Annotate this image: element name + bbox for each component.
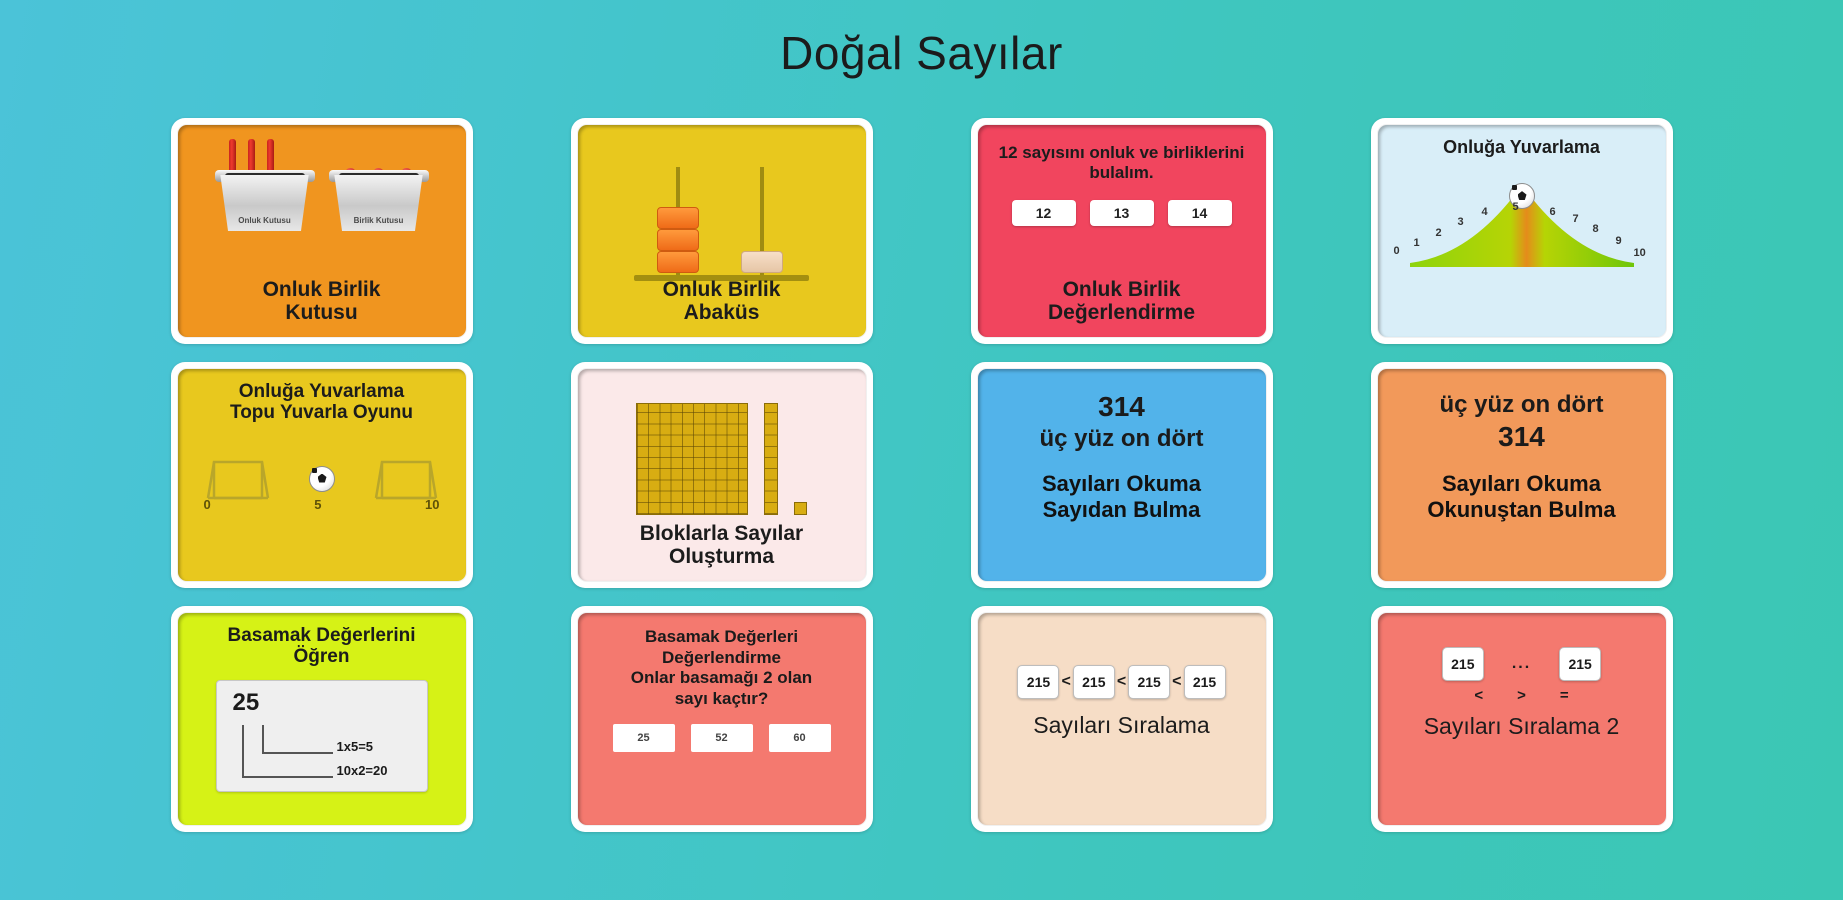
place-value-diagram: 25 1x5=5 10x2=20	[216, 680, 428, 792]
number-tile: 215	[1073, 665, 1115, 699]
goal-right-icon	[370, 450, 444, 502]
comparison-operator: <	[1061, 673, 1070, 691]
card-label-line2: Değerlendirme	[984, 301, 1260, 325]
number-tile: 215	[1017, 665, 1059, 699]
card-label-line1: Sayıları Sıralama	[1033, 712, 1209, 738]
card-label: Sayıları Sıralama	[978, 713, 1266, 739]
card-label-line1: Bloklarla Sayılar	[584, 522, 860, 546]
operator-less-than[interactable]: <	[1474, 687, 1483, 704]
card-label-line2: Topu Yuvarla Oyunu	[184, 402, 460, 423]
card-label-line1: Onluk Birlik	[584, 278, 860, 302]
number-pair: 215 ... 215	[1442, 647, 1601, 681]
unit-cube	[794, 502, 807, 515]
onluk-bin-icon: Onluk Kutusu	[217, 153, 313, 231]
example-number: 314	[1098, 391, 1145, 423]
card-label: Basamak Değerleri Değerlendirme Onlar ba…	[619, 613, 824, 710]
card-sayilari-okuma-sayidan-bulma[interactable]: 314 üç yüz on dört Sayıları Okuma Sayıda…	[971, 362, 1273, 588]
diagram-eq-tens: 10x2=20	[337, 763, 388, 778]
hill-number: 5	[1513, 201, 1519, 213]
hill-number: 9	[1616, 235, 1622, 247]
card-label: Onluğa Yuvarlama	[1378, 125, 1666, 157]
card-label: Onluk Birlik Değerlendirme	[978, 278, 1266, 325]
operator-choices: < > =	[1474, 687, 1568, 704]
option-button[interactable]: 12	[1012, 200, 1076, 226]
card-label: Basamak Değerlerini Öğren	[178, 613, 466, 668]
base-ten-blocks-icon	[636, 391, 807, 515]
card-label: Onluk Birlik Abaküs	[578, 278, 866, 325]
card-label-line1: Sayıları Sıralama 2	[1424, 713, 1620, 739]
card-basamak-degerlerini-ogren[interactable]: Basamak Değerlerini Öğren 25 1x5=5 10x2=…	[171, 606, 473, 832]
card-label-line2: Öğren	[184, 646, 460, 667]
scale-mid: 5	[314, 497, 321, 512]
operator-greater-than[interactable]: >	[1517, 687, 1526, 704]
card-label: Sayıları Okuma Okunuştan Bulma	[1427, 471, 1615, 523]
card-label-line1: Basamak Değerlerini	[184, 625, 460, 646]
card-onluga-yuvarlama[interactable]: Onluğa Yuvarlama	[1371, 118, 1673, 344]
example-number: 314	[1498, 421, 1545, 453]
option-button[interactable]: 13	[1090, 200, 1154, 226]
card-sayilari-siralama-2[interactable]: 215 ... 215 < > = Sayıları Sıralama 2	[1371, 606, 1673, 832]
hill-illustration: 0 1 2 3 4 5 6 7 8 9 10	[1378, 161, 1666, 291]
number-sequence: 215 < 215 < 215 < 215	[1017, 665, 1225, 699]
card-onluk-birlik-kutusu[interactable]: Onluk Kutusu Birlik Kutusu Onluk Birlik …	[171, 118, 473, 344]
card-label-line2: Değerlendirme	[631, 648, 812, 669]
card-label-line2: Sayıdan Bulma	[1042, 497, 1201, 523]
card-label: Bloklarla Sayılar Oluşturma	[578, 522, 866, 569]
card-label-line2: Kutusu	[184, 301, 460, 325]
diagram-lines	[217, 681, 429, 793]
scale-min: 0	[204, 497, 211, 512]
hill-number: 4	[1482, 206, 1488, 218]
option-button[interactable]: 60	[769, 724, 831, 752]
card-sayilari-okuma-okunustan-bulma[interactable]: üç yüz on dört 314 Sayıları Okuma Okunuş…	[1371, 362, 1673, 588]
example-words: üç yüz on dört	[1440, 391, 1604, 419]
bins-illustration: Onluk Kutusu Birlik Kutusu	[217, 153, 427, 231]
question-line1: Onlar basamağı 2 olan	[631, 668, 812, 689]
card-basamak-degerleri-degerlendirme[interactable]: Basamak Değerleri Değerlendirme Onlar ba…	[571, 606, 873, 832]
card-label-line2: Oluşturma	[584, 545, 860, 569]
card-label: Onluk Birlik Kutusu	[178, 278, 466, 325]
goals-illustration: 0 5 10	[178, 436, 466, 526]
number-tile: 215	[1559, 647, 1601, 681]
card-label-line1: Onluk Birlik	[184, 278, 460, 302]
comparison-operator: <	[1172, 673, 1181, 691]
hill-number: 0	[1394, 245, 1400, 257]
card-onluk-birlik-abakus[interactable]: Onluk Birlik Abaküs	[571, 118, 873, 344]
hill-number: 6	[1550, 206, 1556, 218]
card-label-line1: Onluğa Yuvarlama	[184, 381, 460, 402]
card-label-line2: Okunuştan Bulma	[1427, 497, 1615, 523]
example-words: üç yüz on dört	[1040, 425, 1204, 453]
comparison-operator: <	[1117, 673, 1126, 691]
card-sayilari-siralama[interactable]: 215 < 215 < 215 < 215 Sayıları Sıralama	[971, 606, 1273, 832]
card-label: Onluğa Yuvarlama Topu Yuvarla Oyunu	[178, 369, 466, 424]
hill-number: 7	[1573, 213, 1579, 225]
card-label-line1: Sayıları Okuma	[1042, 471, 1201, 497]
hill-number: 2	[1436, 227, 1442, 239]
scale-max: 10	[425, 497, 439, 512]
activity-card-grid: Onluk Kutusu Birlik Kutusu Onluk Birlik …	[0, 118, 1843, 832]
answer-options: 25 52 60	[613, 724, 831, 752]
number-tile: 215	[1128, 665, 1170, 699]
operator-equals[interactable]: =	[1560, 687, 1569, 704]
birlik-bin-icon: Birlik Kutusu	[331, 153, 427, 231]
card-label-line1: Onluğa Yuvarlama	[1443, 137, 1600, 157]
card-label-line2: Abaküs	[584, 301, 860, 325]
birlik-bin-tag: Birlik Kutusu	[354, 216, 404, 225]
hill-number: 8	[1593, 223, 1599, 235]
hill-number: 10	[1634, 247, 1646, 259]
scale-numbers: 0 5 10	[178, 497, 466, 512]
number-tile: 215	[1442, 647, 1484, 681]
card-onluk-birlik-degerlendirme[interactable]: 12 sayısını onluk ve birliklerini bulalı…	[971, 118, 1273, 344]
hill-number: 1	[1414, 237, 1420, 249]
card-topu-yuvarla-oyunu[interactable]: Onluğa Yuvarlama Topu Yuvarla Oyunu	[171, 362, 473, 588]
card-label: Sayıları Okuma Sayıdan Bulma	[1042, 471, 1201, 523]
onluk-bin-tag: Onluk Kutusu	[238, 216, 290, 225]
soccer-ball-icon	[309, 466, 335, 492]
option-button[interactable]: 14	[1168, 200, 1232, 226]
ten-rod	[764, 403, 778, 515]
card-label-line1: Sayıları Okuma	[1427, 471, 1615, 497]
question-line2: sayı kaçtır?	[631, 689, 812, 710]
option-button[interactable]: 25	[613, 724, 675, 752]
card-label-line1: Basamak Değerleri	[631, 627, 812, 648]
number-tile: 215	[1184, 665, 1226, 699]
card-label-line1: Onluk Birlik	[984, 278, 1260, 302]
question-text: 12 sayısını onluk ve birliklerini bulalı…	[978, 125, 1266, 184]
goal-left-icon	[200, 450, 274, 502]
abacus-icon	[634, 161, 809, 281]
hundred-flat	[636, 403, 748, 515]
diagram-eq-ones: 1x5=5	[337, 739, 374, 754]
card-bloklarla-sayilar-olusturma[interactable]: Bloklarla Sayılar Oluşturma	[571, 362, 873, 588]
hill-number: 3	[1458, 216, 1464, 228]
gap-marker: ...	[1512, 655, 1531, 673]
page-title: Doğal Sayılar	[0, 0, 1843, 110]
answer-options: 12 13 14	[1012, 200, 1232, 226]
option-button[interactable]: 52	[691, 724, 753, 752]
card-label: Sayıları Sıralama 2	[1378, 714, 1666, 740]
